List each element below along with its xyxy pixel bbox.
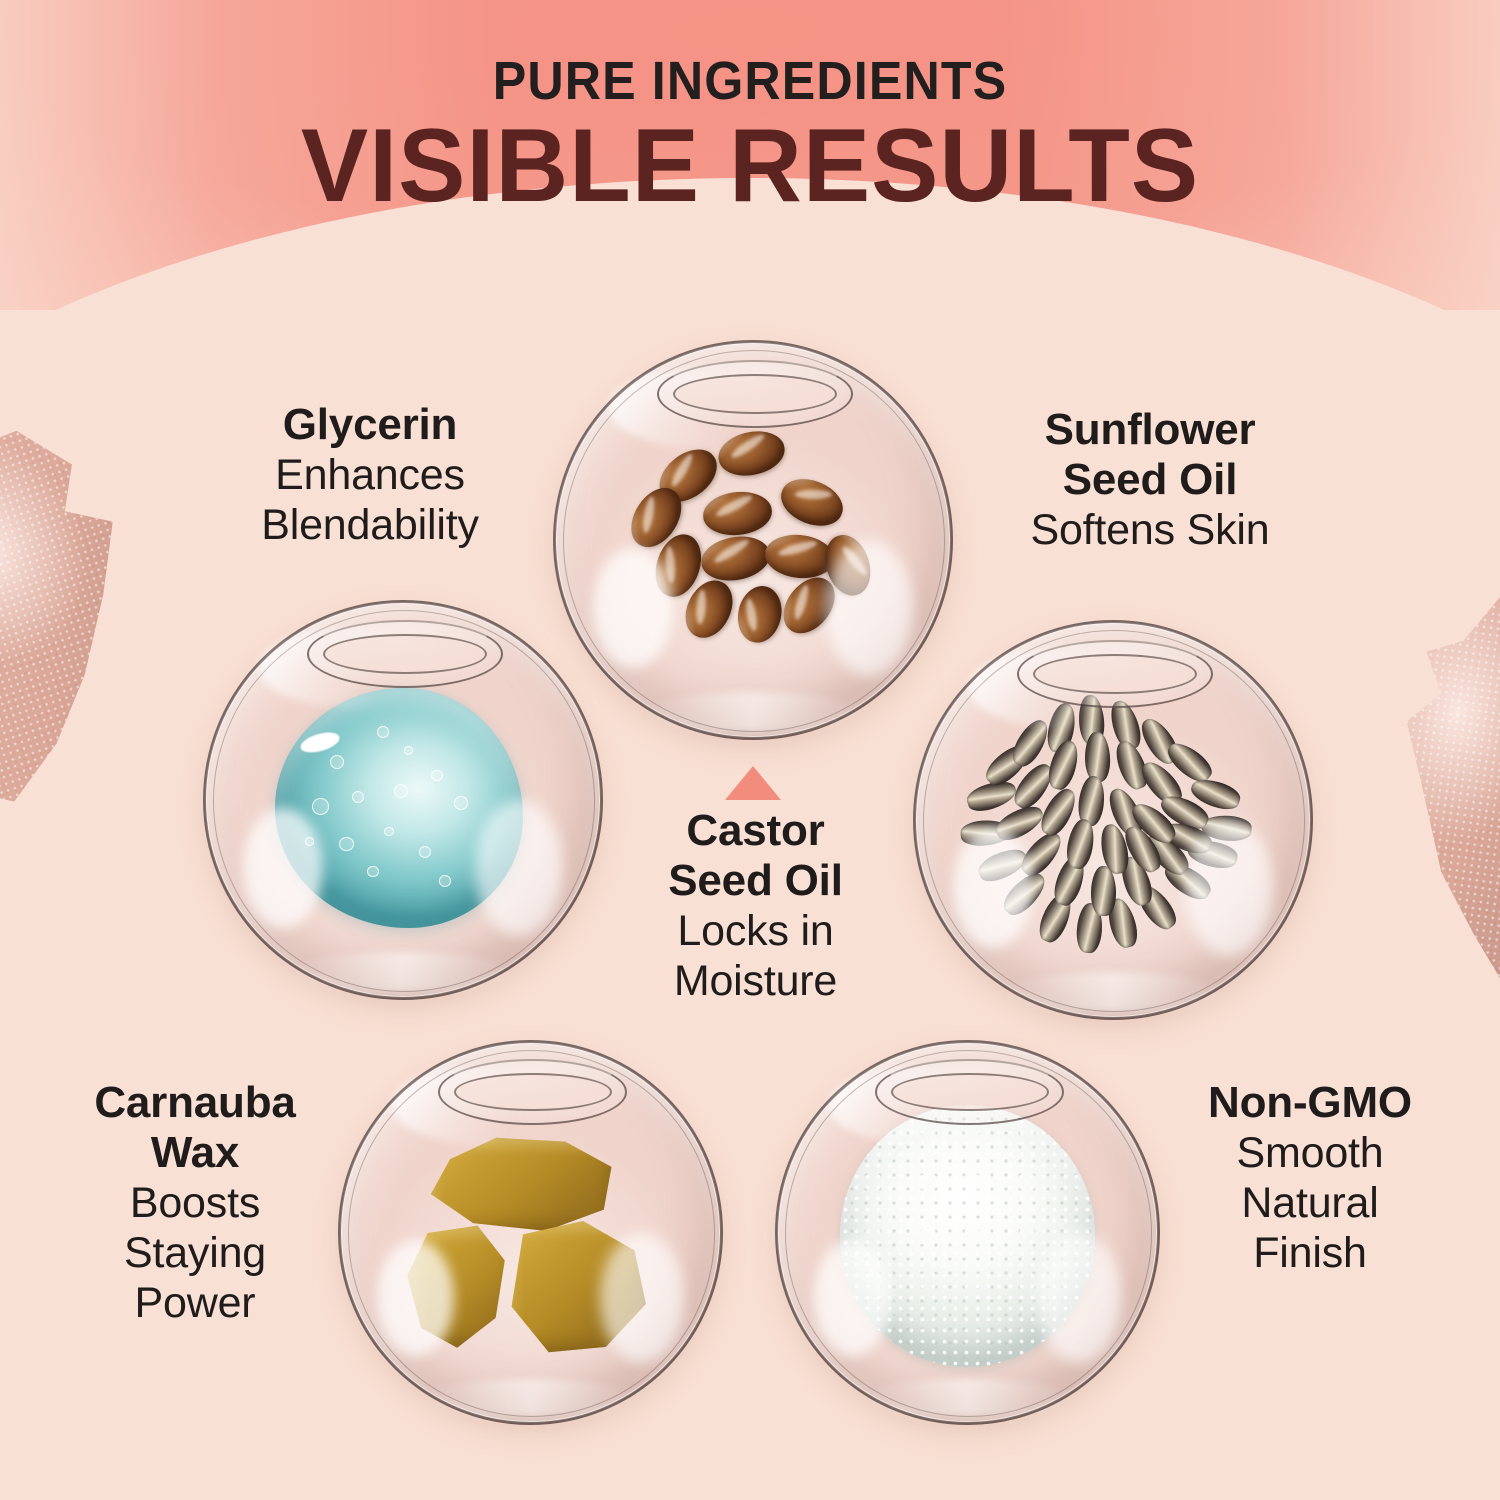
ingredient-desc-line1: Enhances bbox=[170, 450, 570, 500]
sphere-sunflower-seed-oil bbox=[913, 620, 1313, 1020]
ingredient-name: Non-GMO bbox=[1140, 1078, 1480, 1128]
ingredient-desc-line2: Blendability bbox=[170, 500, 570, 550]
label-castor-seed-oil: Castor Seed Oil Locks in Moisture bbox=[598, 806, 913, 1006]
ingredients-infographic: PURE INGREDIENTS VISIBLE RESULTS bbox=[0, 0, 1500, 1500]
ingredient-name: Glycerin bbox=[170, 400, 570, 450]
glass-outer-rim bbox=[553, 340, 953, 740]
page-title: VISIBLE RESULTS bbox=[23, 110, 1478, 218]
glass-outer-rim bbox=[203, 600, 603, 1000]
ingredient-desc-line1: Boosts bbox=[30, 1178, 360, 1228]
ingredient-desc-line3: Finish bbox=[1140, 1228, 1480, 1278]
ingredient-desc-line1: Locks in bbox=[598, 906, 913, 956]
eyebrow-title: PURE INGREDIENTS bbox=[53, 0, 1448, 110]
ingredient-desc-line1: Smooth bbox=[1140, 1128, 1480, 1178]
label-glycerin: Glycerin Enhances Blendability bbox=[170, 400, 570, 550]
glass-outer-rim bbox=[775, 1040, 1160, 1425]
ingredient-desc-line3: Power bbox=[30, 1278, 360, 1328]
ingredient-name-line1: Castor bbox=[598, 806, 913, 856]
triangle-marker-icon bbox=[725, 766, 781, 800]
sphere-castor-seed-oil bbox=[553, 340, 953, 740]
lipstick-smear-right bbox=[1325, 581, 1500, 1012]
ingredient-desc-line2: Natural bbox=[1140, 1178, 1480, 1228]
sphere-non-gmo bbox=[775, 1040, 1160, 1425]
smear-grain-texture bbox=[1325, 581, 1500, 1012]
ingredient-desc-line2: Moisture bbox=[598, 956, 913, 1006]
ingredient-name-line1: Carnauba bbox=[30, 1078, 360, 1128]
label-sunflower-seed-oil: Sunflower Seed Oil Softens Skin bbox=[940, 405, 1360, 555]
glass-outer-rim bbox=[913, 620, 1313, 1020]
ingredient-desc-line2: Staying bbox=[30, 1228, 360, 1278]
title-block: PURE INGREDIENTS VISIBLE RESULTS bbox=[0, 0, 1500, 218]
label-non-gmo: Non-GMO Smooth Natural Finish bbox=[1140, 1078, 1480, 1278]
ingredient-name-line1: Sunflower bbox=[940, 405, 1360, 455]
ingredient-name-line2: Seed Oil bbox=[940, 455, 1360, 505]
ingredient-name-line2: Seed Oil bbox=[598, 856, 913, 906]
label-carnauba-wax: Carnauba Wax Boosts Staying Power bbox=[30, 1078, 360, 1328]
ingredient-name-line2: Wax bbox=[30, 1128, 360, 1178]
ingredient-desc-line1: Softens Skin bbox=[940, 505, 1360, 555]
sphere-carnauba-wax bbox=[338, 1040, 723, 1425]
sphere-glycerin bbox=[203, 600, 603, 1000]
glass-outer-rim bbox=[338, 1040, 723, 1425]
